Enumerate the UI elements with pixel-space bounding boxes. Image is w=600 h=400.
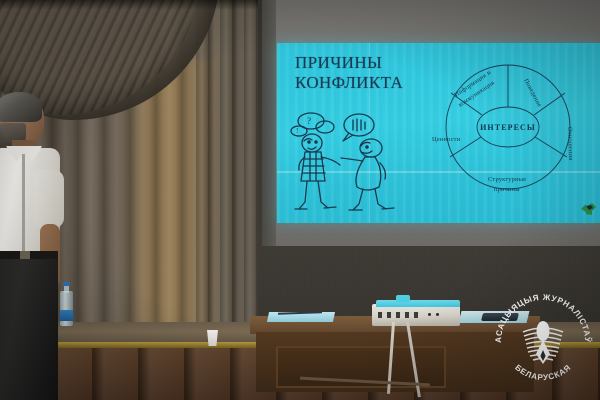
curtain-right-panel [196, 0, 258, 330]
phone [481, 313, 519, 321]
projector-focus-knob [396, 295, 410, 302]
slide-corner-logo [580, 202, 597, 217]
photo-scene: ПРИЧИНЫ КОНФЛИКТА ? ! [0, 0, 600, 400]
arguing-figures-cartoon: ? ! [285, 105, 399, 217]
diagram-center-label: ИНТЕРЕСЫ [480, 123, 536, 132]
presenter-trousers [0, 251, 58, 400]
curtain-rod-shadow [0, 0, 258, 10]
segment-label-1-line1: Поведение [522, 78, 543, 109]
projector-lid [376, 300, 460, 307]
segment-label-4-line1: Ценности [432, 136, 461, 143]
presenter-sleeve [34, 170, 64, 228]
projector-ports [378, 312, 420, 318]
projector-indicator-1 [428, 313, 431, 316]
screen-left-edge [262, 0, 276, 246]
projected-slide: ПРИЧИНЫ КОНФЛИКТА ? ! [277, 43, 600, 223]
segment-label-3-line1: Структурные [488, 176, 526, 183]
segment-label-3-line2: причины [494, 186, 520, 193]
segment-label-2-line1: Отношения [566, 127, 574, 161]
svg-text:?: ? [307, 116, 311, 126]
presenter [0, 96, 82, 400]
svg-text:!: ! [296, 127, 298, 135]
presenter-belt-buckle [20, 251, 30, 259]
projector-indicator-2 [436, 313, 439, 316]
presenter-hair [0, 92, 42, 122]
conflict-causes-diagram: Информация и коммуникация Поведение Отно… [422, 45, 594, 221]
presenter-shirt-placket [22, 154, 25, 254]
